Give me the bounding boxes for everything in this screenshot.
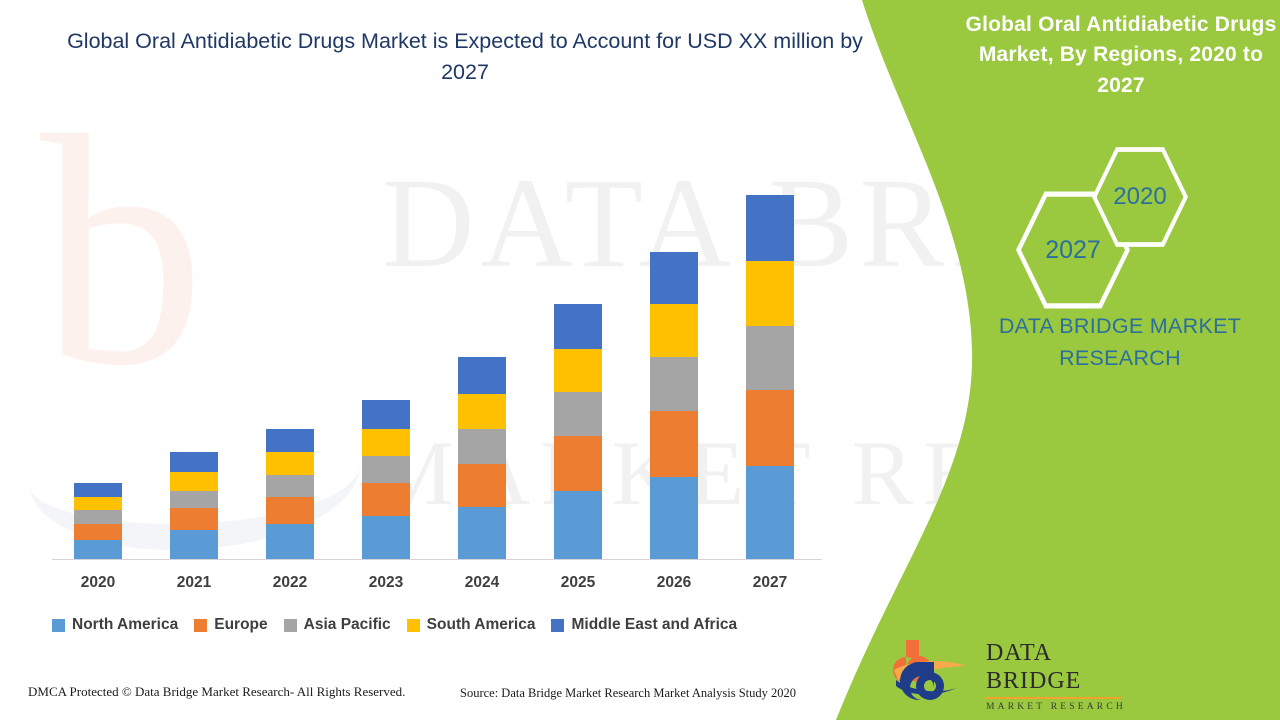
- infographic-canvas: b DATA BRIDGE MARKET RESEARCH Global Ora…: [0, 0, 1280, 720]
- bar-segment: [554, 392, 602, 437]
- x-axis-line: [52, 559, 822, 560]
- x-axis-label: 2024: [442, 574, 522, 592]
- bar-segment: [74, 483, 122, 497]
- chart-plot-area: [52, 170, 822, 560]
- bar-segment: [746, 261, 794, 325]
- bar-segment: [74, 524, 122, 540]
- bar-segment: [170, 530, 218, 559]
- bar-segment: [170, 452, 218, 471]
- bar-segment: [170, 472, 218, 491]
- logo-main-text: DATA BRIDGE: [986, 640, 1126, 695]
- x-axis-label: 2021: [154, 574, 234, 592]
- legend-item[interactable]: South America: [407, 616, 536, 634]
- legend-swatch: [407, 619, 420, 632]
- bar-2023: [362, 400, 410, 559]
- source-note: Source: Data Bridge Market Research Mark…: [460, 686, 796, 701]
- bar-segment: [458, 429, 506, 464]
- bar-segment: [554, 491, 602, 559]
- bar-segment: [746, 326, 794, 390]
- x-axis-label: 2026: [634, 574, 714, 592]
- bar-2021: [170, 452, 218, 559]
- bar-segment: [266, 524, 314, 559]
- legend-item[interactable]: Europe: [194, 616, 267, 634]
- legend-swatch: [551, 619, 564, 632]
- bar-group: [52, 170, 822, 559]
- legend-label: Asia Pacific: [304, 616, 391, 634]
- bar-segment: [266, 475, 314, 496]
- legend-item[interactable]: Middle East and Africa: [551, 616, 737, 634]
- bar-segment: [458, 464, 506, 507]
- bar-segment: [554, 304, 602, 349]
- chart-legend: North AmericaEuropeAsia PacificSouth Ame…: [52, 616, 842, 634]
- bar-2020: [74, 483, 122, 559]
- legend-label: South America: [427, 616, 536, 634]
- x-axis-label: 2022: [250, 574, 330, 592]
- logo-sub-text: MARKET RESEARCH: [986, 702, 1126, 712]
- bar-2027: [746, 195, 794, 559]
- x-axis-label: 2027: [730, 574, 810, 592]
- bar-segment: [650, 304, 698, 357]
- legend-swatch: [194, 619, 207, 632]
- bar-2025: [554, 304, 602, 559]
- bar-segment: [650, 411, 698, 477]
- bar-segment: [458, 507, 506, 560]
- chart-title: Global Oral Antidiabetic Drugs Market is…: [60, 26, 870, 88]
- bar-segment: [746, 466, 794, 559]
- bar-segment: [650, 477, 698, 559]
- bar-segment: [266, 452, 314, 475]
- x-axis-label: 2023: [346, 574, 426, 592]
- data-bridge-logo-text: DATA BRIDGE MARKET RESEARCH: [986, 640, 1126, 712]
- legend-item[interactable]: North America: [52, 616, 178, 634]
- panel-brand-name: DATA BRIDGE MARKET RESEARCH: [960, 310, 1280, 375]
- logo-divider: [986, 697, 1122, 699]
- legend-label: Middle East and Africa: [571, 616, 737, 634]
- bar-segment: [170, 508, 218, 529]
- panel-content: Global Oral Antidiabetic Drugs Market, B…: [960, 0, 1280, 720]
- bar-segment: [74, 510, 122, 524]
- bar-segment: [362, 516, 410, 559]
- bar-segment: [458, 394, 506, 429]
- bar-2022: [266, 429, 314, 559]
- data-bridge-logo-mark: [890, 636, 976, 702]
- hexagon-2020-label: 2020: [1113, 183, 1166, 211]
- dmca-notice: DMCA Protected © Data Bridge Market Rese…: [28, 684, 405, 700]
- bar-segment: [458, 357, 506, 394]
- bar-segment: [650, 357, 698, 411]
- bar-segment: [746, 390, 794, 466]
- bar-segment: [170, 491, 218, 509]
- bar-2026: [650, 252, 698, 559]
- x-axis-label: 2025: [538, 574, 618, 592]
- legend-item[interactable]: Asia Pacific: [284, 616, 391, 634]
- legend-swatch: [52, 619, 65, 632]
- hexagon-group: 2027 2020: [988, 145, 1258, 290]
- bar-segment: [746, 195, 794, 261]
- bar-segment: [362, 483, 410, 516]
- data-bridge-logo: DATA BRIDGE MARKET RESEARCH: [890, 636, 1120, 702]
- bar-segment: [554, 349, 602, 392]
- bar-segment: [554, 436, 602, 490]
- legend-label: Europe: [214, 616, 267, 634]
- bar-segment: [650, 252, 698, 305]
- bar-segment: [266, 429, 314, 452]
- x-axis-labels: 20202021202220232024202520262027: [52, 574, 822, 600]
- bar-segment: [362, 456, 410, 483]
- bar-segment: [362, 400, 410, 429]
- panel-title: Global Oral Antidiabetic Drugs Market, B…: [956, 10, 1280, 101]
- bar-segment: [74, 540, 122, 559]
- bar-segment: [362, 429, 410, 456]
- bar-segment: [74, 497, 122, 511]
- x-axis-label: 2020: [58, 574, 138, 592]
- bar-2024: [458, 357, 506, 559]
- legend-label: North America: [72, 616, 178, 634]
- legend-swatch: [284, 619, 297, 632]
- bar-segment: [266, 497, 314, 524]
- hexagon-2027-label: 2027: [1045, 236, 1101, 265]
